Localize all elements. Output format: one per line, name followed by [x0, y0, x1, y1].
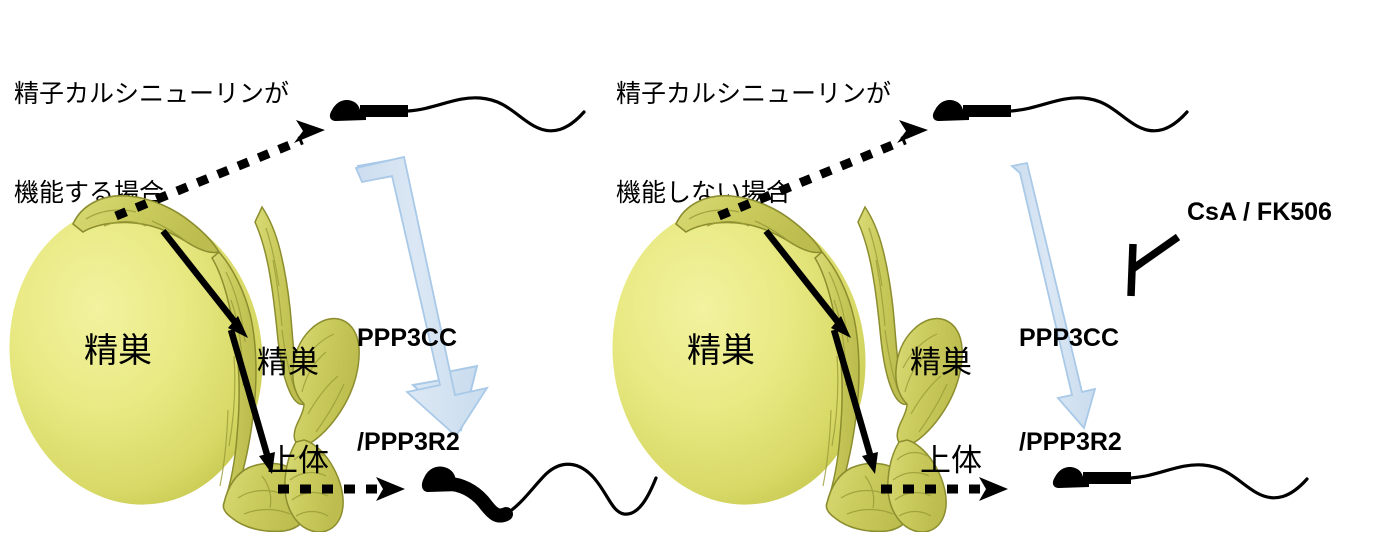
testis-label-right: 精巣 — [687, 334, 755, 370]
epididymis-label-left-line2: 上体 — [267, 445, 329, 478]
figure-canvas: 精子カルシニューリンが 機能する場合 精子カルシニューリンが 機能しない場合 — [0, 0, 1374, 532]
gene-label-right: PPP3CC /PPP3R2 — [1019, 252, 1122, 528]
sperm-left-top — [330, 98, 584, 131]
epididymis-label-right-line1: 精巣 — [900, 347, 982, 380]
inhibitor-label: CsA / FK506 — [1187, 198, 1332, 227]
gene-label-left-line1: PPP3CC — [357, 321, 460, 356]
epididymis-label-right-line2: 上体 — [920, 445, 982, 478]
epididymis-label-left-line1: 精巣 — [247, 347, 329, 380]
sperm-right-top — [933, 98, 1187, 131]
epididymis-label-right: 精巣 上体 — [900, 282, 982, 542]
gene-label-left-line2: /PPP3R2 — [357, 425, 460, 460]
testis-label-left: 精巣 — [84, 334, 152, 370]
inhibition-t-bar-icon — [1131, 237, 1178, 296]
epididymis-label-left: 精巣 上体 — [247, 282, 329, 542]
gene-label-right-line1: PPP3CC — [1019, 321, 1122, 356]
gene-label-left: PPP3CC /PPP3R2 — [357, 252, 460, 528]
diagram-svg — [0, 0, 1374, 532]
gene-label-right-line2: /PPP3R2 — [1019, 425, 1122, 460]
